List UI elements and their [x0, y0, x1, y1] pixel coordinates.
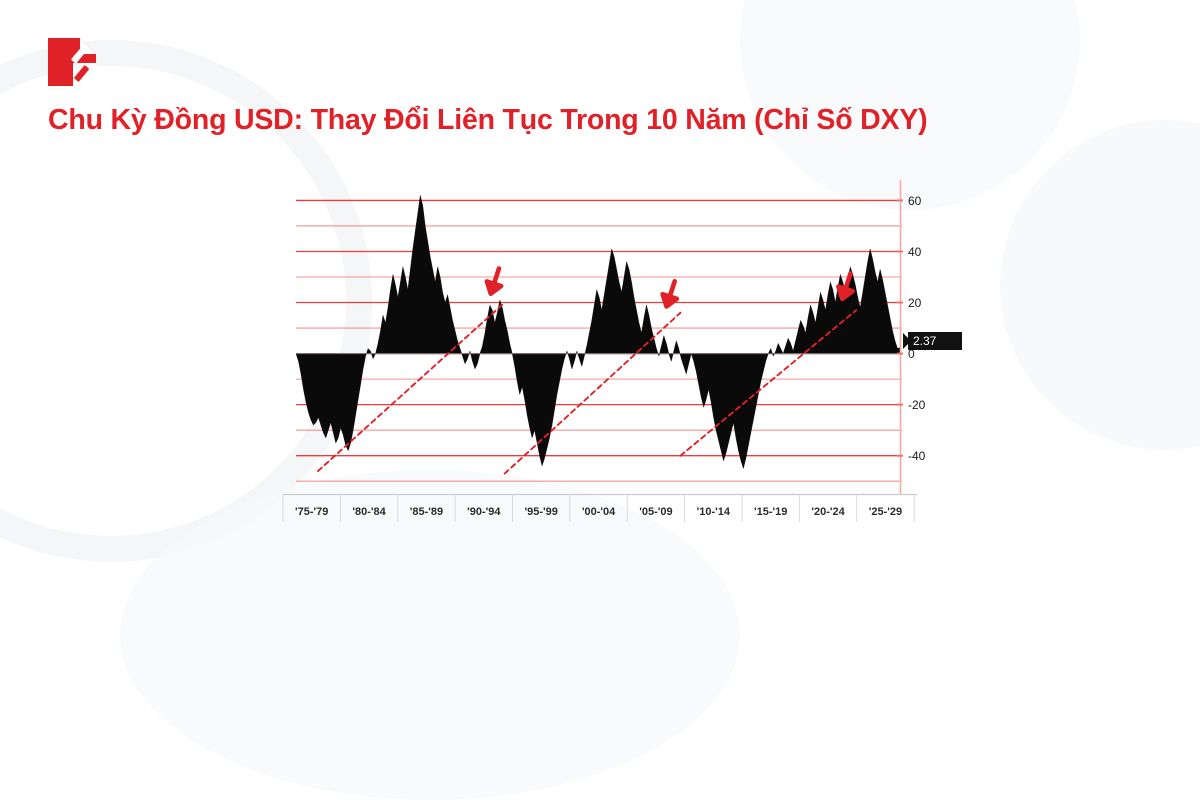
page-title: Chu Kỳ Đồng USD: Thay Đổi Liên Tục Trong…: [48, 103, 927, 139]
x-tick-label: '00-'04: [582, 506, 616, 518]
x-tick-label: '25-'29: [869, 506, 902, 518]
document-pencil-logo-icon: [48, 38, 96, 86]
x-tick-label: '10-'14: [697, 506, 731, 518]
x-axis-ticks: '75-'79'80-'84'85-'89'90-'94'95-'99'00-'…: [283, 494, 914, 522]
x-tick-label: '15-'19: [754, 506, 787, 518]
x-tick-label: '85-'89: [410, 506, 443, 518]
x-tick-label: '20-'24: [811, 506, 845, 518]
x-tick-label: '95-'99: [525, 506, 558, 518]
x-axis: '75-'79'80-'84'85-'89'90-'94'95-'99'00-'…: [283, 494, 917, 522]
y-tick-label: 40: [908, 245, 922, 259]
x-tick-label: '05-'09: [639, 506, 672, 518]
x-tick-label: '75-'79: [295, 506, 328, 518]
x-tick-label: '90-'94: [467, 506, 501, 518]
y-tick-label: -20: [908, 398, 926, 412]
y-tick-label: 20: [908, 296, 922, 310]
x-tick-label: '80-'84: [352, 506, 386, 518]
brand-logo: [48, 38, 96, 86]
chart-svg: 6040200-20-40 2.37 '75-'79'80-'84'85-'89…: [0, 0, 1200, 628]
last-price-tag: 2.37: [903, 332, 962, 350]
y-tick-label: 60: [908, 194, 922, 208]
price-tag-value: 2.37: [913, 334, 937, 348]
y-tick-label: -40: [908, 449, 926, 463]
dxy-cycle-chart: 6040200-20-40 2.37 '75-'79'80-'84'85-'89…: [0, 0, 1200, 628]
